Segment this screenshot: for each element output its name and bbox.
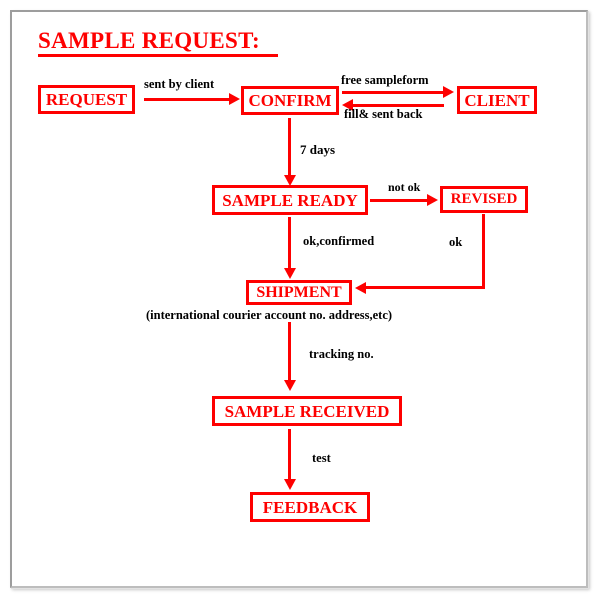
edge-label-free-sampleform: free sampleform	[341, 74, 429, 87]
node-confirm[interactable]: CONFIRM	[241, 86, 339, 115]
node-revised[interactable]: REVISED	[440, 186, 528, 213]
edge-samplereceived-feedback-arrowhead	[284, 479, 296, 490]
page-title: SAMPLE REQUEST:	[38, 28, 260, 54]
edge-label-ok: ok	[449, 236, 462, 249]
edge-confirm-client-arrowhead	[443, 86, 454, 98]
node-sample-ready[interactable]: SAMPLE READY	[212, 185, 368, 215]
edge-samplereceived-feedback-line	[288, 429, 291, 482]
edge-revised-shipment-hline	[366, 286, 485, 289]
edge-label-tracking-no: tracking no.	[309, 348, 374, 361]
node-feedback[interactable]: FEEDBACK	[250, 492, 370, 522]
edge-sampleready-revised-arrowhead	[427, 194, 438, 206]
edge-label-ok-confirmed: ok,confirmed	[303, 235, 374, 248]
edge-confirm-sampleready-line	[288, 118, 291, 178]
edge-sampleready-shipment-line	[288, 217, 291, 270]
diagram-canvas: SAMPLE REQUEST: REQUEST CONFIRM CLIENT S…	[0, 0, 600, 600]
edge-label-fill-sent-back: fill& sent back	[344, 108, 422, 121]
node-shipment[interactable]: SHIPMENT	[246, 280, 352, 305]
edge-sampleready-revised-line	[370, 199, 428, 202]
edge-revised-shipment-vline	[482, 214, 485, 289]
edge-request-confirm-arrowhead	[229, 93, 240, 105]
edge-shipment-samplereceived-arrowhead	[284, 380, 296, 391]
node-client[interactable]: CLIENT	[457, 86, 537, 114]
shipment-caption: (international courier account no. addre…	[146, 308, 392, 323]
edge-shipment-samplereceived-line	[288, 322, 291, 382]
edge-confirm-sampleready-arrowhead	[284, 175, 296, 186]
edge-label-test: test	[312, 452, 331, 465]
node-request[interactable]: REQUEST	[38, 85, 135, 114]
edge-revised-shipment-arrowhead	[355, 282, 366, 294]
node-sample-received[interactable]: SAMPLE RECEIVED	[212, 396, 402, 426]
edge-confirm-client-line	[342, 91, 444, 94]
edge-request-confirm-line	[144, 98, 230, 101]
edge-sampleready-shipment-arrowhead	[284, 268, 296, 279]
edge-label-sent-by-client: sent by client	[144, 78, 214, 91]
title-underline	[38, 54, 278, 57]
edge-label-7-days: 7 days	[300, 143, 335, 157]
edge-label-not-ok: not ok	[388, 181, 420, 194]
